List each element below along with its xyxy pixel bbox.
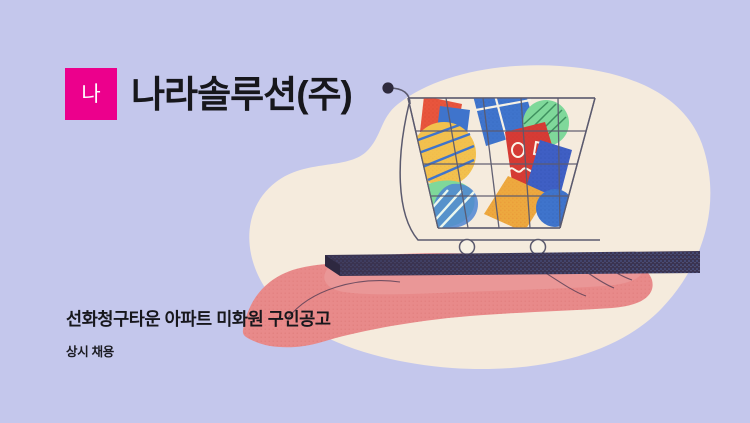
company-name: 나라솔루션(주) — [131, 76, 352, 113]
cart-handle-knob — [382, 82, 393, 93]
job-posting-banner: 나 나라솔루션(주) 선화청구타운 아파트 미화원 구인공고 상시 채용 — [0, 0, 750, 423]
logo-badge: 나 — [65, 68, 117, 120]
posting-subline: 상시 채용 — [66, 341, 114, 360]
posting-headline: 선화청구타운 아파트 미화원 구인공고 — [66, 306, 331, 331]
device-bar — [325, 251, 700, 276]
company-logo-row: 나 나라솔루션(주) — [65, 68, 352, 120]
